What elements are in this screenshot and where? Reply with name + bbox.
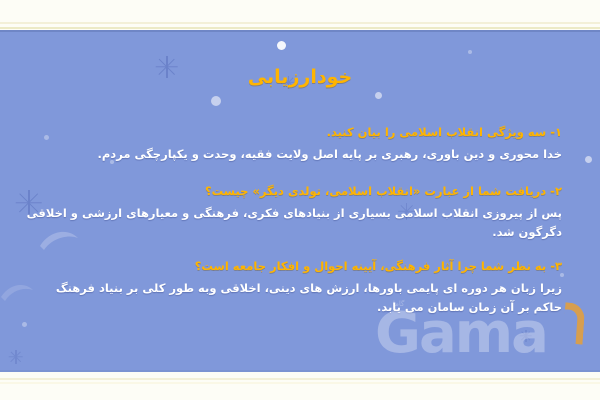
- snowflake-icon: [9, 350, 23, 364]
- page-bottom-band-2: [0, 382, 600, 384]
- qa-item-1: ۱- سه ویژگی انقلاب اسلامی را بیان کنید. …: [24, 124, 562, 164]
- slide-canvas: خودارزیابی ۱- سه ویژگی انقلاب اسلامی را …: [0, 30, 600, 372]
- decor-dot: [585, 156, 592, 163]
- slide-title: خودارزیابی: [0, 66, 600, 88]
- qa-item-3: ۳- به نظر شما چرا آثار فرهنگی، آیینه احو…: [24, 258, 562, 317]
- page-top-band: [0, 22, 600, 24]
- page-bottom-band: [0, 378, 600, 380]
- decor-dot: [375, 92, 382, 99]
- answer-text-2: پس از پیروزی انقلاب اسلامی بسیاری از بنی…: [24, 204, 562, 242]
- decor-dot: [22, 322, 27, 327]
- answer-text-3: زیرا زبان هر دوره ای پایمی باورها، ارزش …: [24, 279, 562, 317]
- snowflake-icon: [520, 330, 532, 342]
- decor-dot: [211, 96, 221, 106]
- decor-dot: [468, 50, 472, 54]
- page-root: خودارزیابی ۱- سه ویژگی انقلاب اسلامی را …: [0, 0, 600, 400]
- decor-dot: [277, 41, 286, 50]
- qa-item-2: ۲- دریافت شما از عبارت «انقلاب اسلامی، ت…: [24, 183, 562, 242]
- slide-bottom-edge: [0, 370, 600, 372]
- answer-text-1: خدا محوری و دین باوری، رهبری بر پایه اصل…: [24, 145, 562, 164]
- watermark-accent-icon: [563, 302, 586, 344]
- question-text-2: ۲- دریافت شما از عبارت «انقلاب اسلامی، ت…: [24, 183, 562, 200]
- question-text-1: ۱- سه ویژگی انقلاب اسلامی را بیان کنید.: [24, 124, 562, 141]
- page-top-band-2: [0, 27, 600, 29]
- question-text-3: ۳- به نظر شما چرا آثار فرهنگی، آیینه احو…: [24, 258, 562, 275]
- slide-top-edge: [0, 30, 600, 32]
